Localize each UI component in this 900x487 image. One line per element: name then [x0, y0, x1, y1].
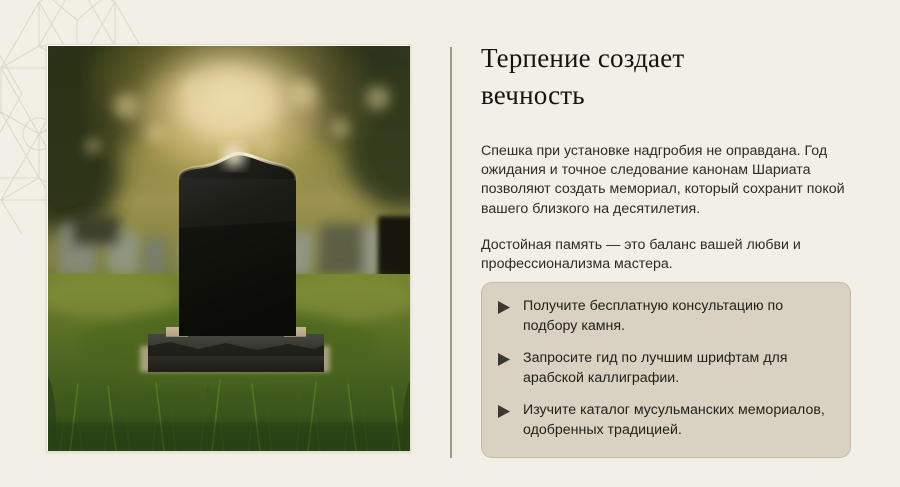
- body-paragraph-2: Достойная память — это баланс вашей любв…: [481, 236, 841, 274]
- cta-list-item[interactable]: Запросите гид по лучшим шрифтам для араб…: [498, 349, 834, 388]
- slide-root: Терпение создает вечность Спешка при уст…: [0, 0, 900, 487]
- body-paragraph-1: Спешка при установке надгробия не оправд…: [481, 142, 853, 219]
- cta-list: Получите бесплатную консультацию по подб…: [498, 297, 834, 440]
- cta-item-label: Запросите гид по лучшим шрифтам для араб…: [523, 349, 834, 388]
- cta-list-item[interactable]: Изучите каталог мусульманских мемориалов…: [498, 401, 834, 440]
- page-title: Терпение создает вечность: [481, 40, 781, 114]
- memorial-photo: [48, 46, 411, 452]
- cta-item-label: Получите бесплатную консультацию по подб…: [523, 297, 834, 336]
- cta-card: Получите бесплатную консультацию по подб…: [481, 282, 851, 458]
- triangle-right-icon: [498, 353, 512, 366]
- triangle-right-icon: [498, 405, 512, 418]
- triangle-right-icon: [498, 301, 512, 314]
- cta-item-label: Изучите каталог мусульманских мемориалов…: [523, 401, 834, 440]
- cta-list-item[interactable]: Получите бесплатную консультацию по подб…: [498, 297, 834, 336]
- memorial-photo-frame: [46, 44, 411, 452]
- content-column: Терпение создает вечность Спешка при уст…: [481, 40, 856, 274]
- vertical-divider: [450, 47, 452, 458]
